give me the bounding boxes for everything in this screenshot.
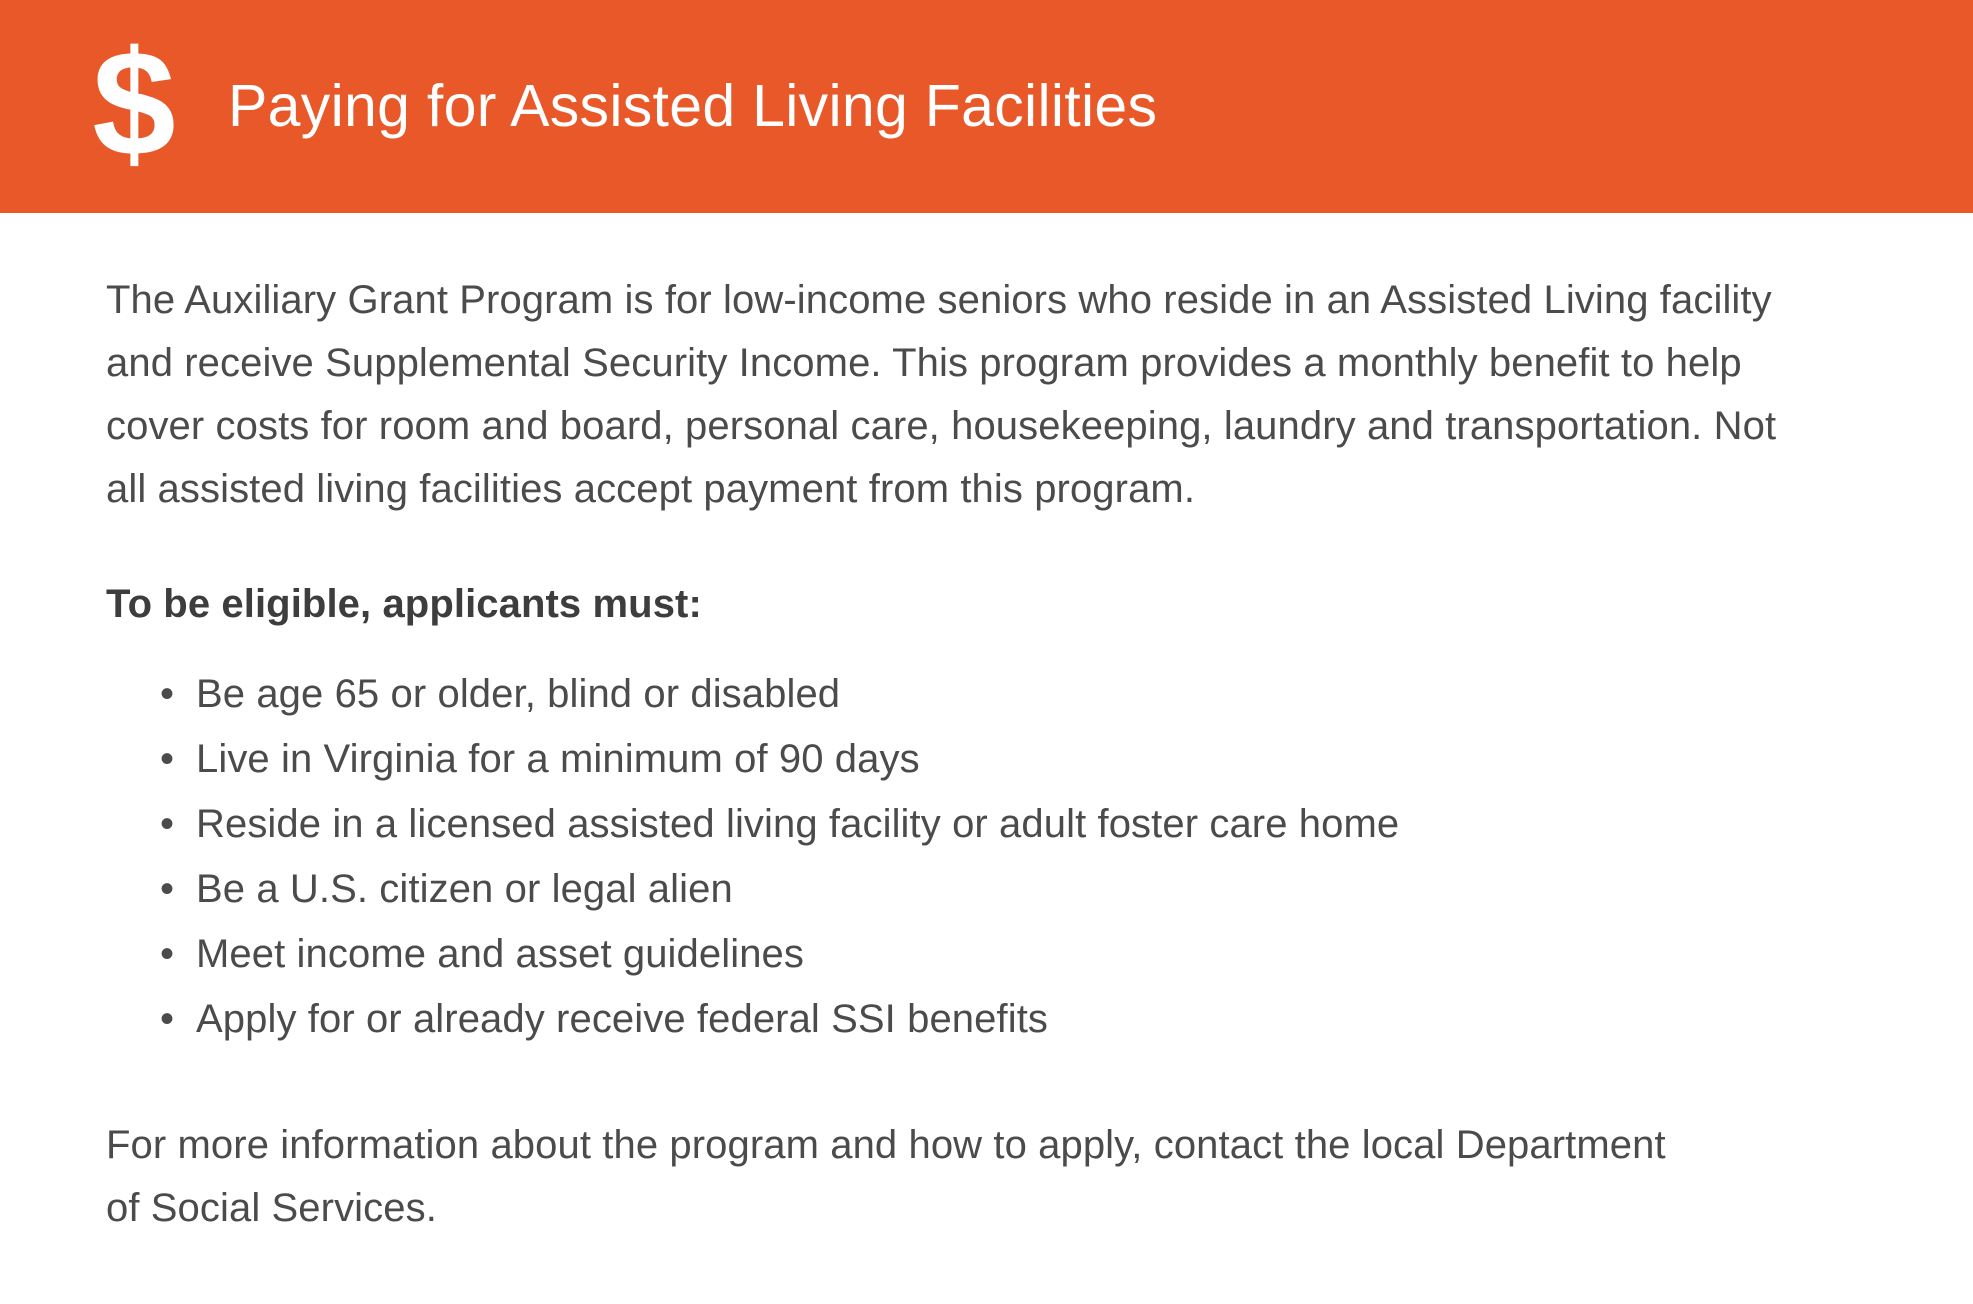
list-item-label: Be age 65 or older, blind or disabled [196, 672, 840, 716]
closing-paragraph: For more information about the program a… [106, 1114, 1706, 1240]
bullet-icon: • [160, 864, 174, 914]
dollar-sign-icon: $ [88, 37, 180, 177]
list-item-label: Apply for or already receive federal SSI… [196, 997, 1048, 1041]
bullet-icon: • [160, 929, 174, 979]
document-body: The Auxiliary Grant Program is for low-i… [0, 269, 1973, 1240]
bullet-icon: • [160, 669, 174, 719]
list-item: • Be a U.S. citizen or legal alien [160, 864, 1877, 914]
list-item: • Apply for or already receive federal S… [160, 994, 1877, 1044]
page-title: Paying for Assisted Living Facilities [228, 74, 1157, 139]
list-item: • Reside in a licensed assisted living f… [160, 799, 1877, 849]
list-item-label: Reside in a licensed assisted living fac… [196, 802, 1399, 846]
list-item-label: Be a U.S. citizen or legal alien [196, 867, 733, 911]
bullet-icon: • [160, 799, 174, 849]
bullet-icon: • [160, 994, 174, 1044]
svg-text:$: $ [92, 37, 175, 177]
eligibility-list: • Be age 65 or older, blind or disabled … [106, 669, 1877, 1044]
list-item: • Meet income and asset guidelines [160, 929, 1877, 979]
bullet-icon: • [160, 734, 174, 784]
list-item-label: Live in Virginia for a minimum of 90 day… [196, 737, 920, 781]
eligibility-heading: To be eligible, applicants must: [106, 579, 1877, 629]
list-item: • Be age 65 or older, blind or disabled [160, 669, 1877, 719]
document-page: $ Paying for Assisted Living Facilities … [0, 0, 1973, 1304]
list-item: • Live in Virginia for a minimum of 90 d… [160, 734, 1877, 784]
list-item-label: Meet income and asset guidelines [196, 932, 804, 976]
intro-paragraph: The Auxiliary Grant Program is for low-i… [106, 269, 1826, 521]
page-header: $ Paying for Assisted Living Facilities [0, 0, 1973, 213]
